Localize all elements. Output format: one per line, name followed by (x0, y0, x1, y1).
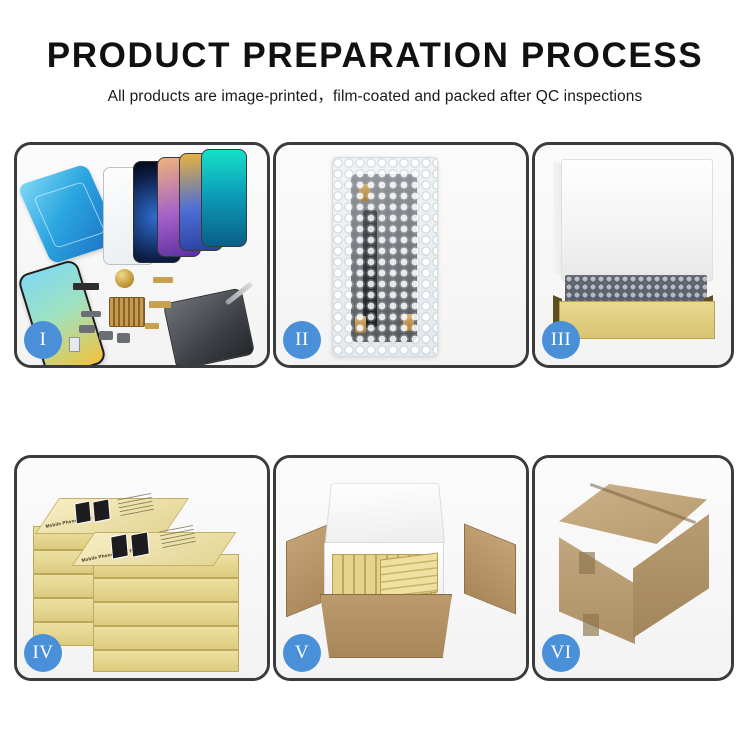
step-panel-3[interactable]: III (532, 142, 734, 368)
step-badge-2: II (283, 321, 321, 359)
stack-box-r4 (93, 626, 239, 650)
carton-flap-right (464, 523, 516, 614)
packed-yellow-boxes-stack (380, 552, 438, 599)
camera-module (99, 331, 113, 340)
speaker-module (117, 333, 130, 343)
bubble-wrap-bag (332, 157, 438, 357)
gold-tab-bottom-right (403, 314, 414, 331)
top-box-lid-upper (35, 498, 189, 534)
carton-front-face (320, 594, 452, 658)
box-window-lower-b (130, 531, 150, 557)
top-box-lid-lower (72, 532, 237, 566)
gold-connector-a (153, 277, 173, 283)
phone-screen-d (201, 149, 247, 247)
foam-cooler-lid (325, 483, 446, 545)
box-window-upper-b (92, 498, 111, 522)
box-window-lower-a (110, 533, 129, 559)
flex-cable-a (81, 311, 101, 317)
gold-disc-part (115, 269, 134, 288)
step-panel-6[interactable]: VI (532, 455, 734, 681)
phone-back-housing (163, 287, 255, 368)
stack-box-r3 (93, 602, 239, 626)
battery-part (73, 283, 99, 290)
gold-tab-bottom-left (355, 316, 366, 333)
step-badge-3: III (542, 321, 580, 359)
chip-array (109, 297, 145, 327)
step-badge-4: IV (24, 634, 62, 672)
stack-box-r2 (93, 578, 239, 602)
grey-bubble-wrap-filling (565, 275, 707, 303)
carton-tape-upper (579, 552, 595, 574)
carton-tape-lower (583, 614, 599, 636)
white-foam-lid (561, 159, 713, 281)
step-badge-6: VI (542, 634, 580, 672)
sim-tray (69, 337, 80, 352)
step-panel-4[interactable]: Mobile Phone Spare Parts Mobile Phone Sp… (14, 455, 270, 681)
page-header: PRODUCT PREPARATION PROCESS All products… (0, 0, 750, 106)
retail-box-stack: Mobile Phone Spare Parts Mobile Phone Sp… (33, 480, 247, 670)
step-badge-1: I (24, 321, 62, 359)
gold-connector-c (145, 323, 159, 329)
step-badge-5: V (283, 634, 321, 672)
stack-box-r5 (93, 650, 239, 672)
black-flex-ribbon (363, 210, 377, 328)
flex-cable-b (79, 325, 95, 333)
step-panel-1[interactable]: I (14, 142, 270, 368)
process-step-grid: I II III (14, 142, 736, 681)
yellow-box-front (559, 301, 715, 339)
step-panel-5[interactable]: V (273, 455, 529, 681)
step-panel-2[interactable]: II (273, 142, 529, 368)
gold-tab-top (359, 184, 370, 201)
gold-connector-b (149, 301, 171, 308)
box-window-upper-a (74, 500, 92, 524)
page-subtitle: All products are image-printed，film-coat… (0, 84, 750, 106)
page-title: PRODUCT PREPARATION PROCESS (0, 38, 750, 75)
